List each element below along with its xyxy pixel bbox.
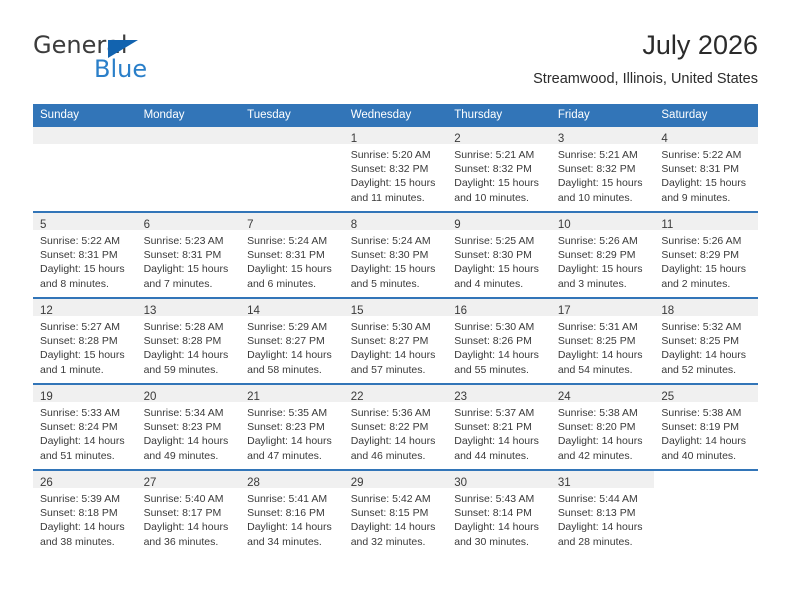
daylight-duration-line1: Daylight: 14 hours (247, 434, 338, 448)
day-details: Sunrise: 5:31 AMSunset: 8:25 PMDaylight:… (551, 316, 655, 377)
daylight-duration-line2: and 10 minutes. (454, 191, 545, 205)
calendar-day-cell[interactable]: 31Sunrise: 5:44 AMSunset: 8:13 PMDayligh… (551, 470, 655, 555)
day-number-band: 4 (654, 127, 758, 144)
sunset-time: Sunset: 8:15 PM (351, 506, 442, 520)
day-number-band: 13 (137, 299, 241, 316)
sunrise-time: Sunrise: 5:40 AM (144, 492, 235, 506)
day-number-band: 16 (447, 299, 551, 316)
sunrise-time: Sunrise: 5:37 AM (454, 406, 545, 420)
daylight-duration-line2: and 32 minutes. (351, 535, 442, 549)
sunset-time: Sunset: 8:29 PM (661, 248, 752, 262)
day-number: 6 (144, 219, 150, 231)
sunset-time: Sunset: 8:20 PM (558, 420, 649, 434)
day-details: Sunrise: 5:32 AMSunset: 8:25 PMDaylight:… (654, 316, 758, 377)
calendar-day-cell[interactable]: 21Sunrise: 5:35 AMSunset: 8:23 PMDayligh… (240, 384, 344, 470)
day-details: Sunrise: 5:23 AMSunset: 8:31 PMDaylight:… (137, 230, 241, 291)
daylight-duration-line1: Daylight: 15 hours (40, 262, 131, 276)
day-number-band: 3 (551, 127, 655, 144)
sunset-time: Sunset: 8:32 PM (454, 162, 545, 176)
calendar-day-cell[interactable]: 15Sunrise: 5:30 AMSunset: 8:27 PMDayligh… (344, 298, 448, 384)
sunrise-sunset-calendar: Sunday Monday Tuesday Wednesday Thursday… (33, 104, 758, 555)
sunrise-time: Sunrise: 5:39 AM (40, 492, 131, 506)
daylight-duration-line1: Daylight: 15 hours (247, 262, 338, 276)
calendar-day-cell[interactable]: 16Sunrise: 5:30 AMSunset: 8:26 PMDayligh… (447, 298, 551, 384)
daylight-duration-line2: and 34 minutes. (247, 535, 338, 549)
day-number-band: 27 (137, 471, 241, 488)
day-number: 10 (558, 219, 571, 231)
day-number-band: 2 (447, 127, 551, 144)
weekday-header-thursday: Thursday (447, 104, 551, 127)
sunrise-time: Sunrise: 5:33 AM (40, 406, 131, 420)
daylight-duration-line1: Daylight: 14 hours (247, 520, 338, 534)
day-number-band: 29 (344, 471, 448, 488)
day-number: 17 (558, 305, 571, 317)
daylight-duration-line2: and 3 minutes. (558, 277, 649, 291)
calendar-day-cell[interactable]: 4Sunrise: 5:22 AMSunset: 8:31 PMDaylight… (654, 127, 758, 212)
page-header: General Blue July 2026 Streamwood, Illin… (33, 28, 758, 100)
day-number: 1 (351, 133, 357, 145)
sunset-time: Sunset: 8:23 PM (247, 420, 338, 434)
day-details: Sunrise: 5:28 AMSunset: 8:28 PMDaylight:… (137, 316, 241, 377)
day-details: Sunrise: 5:43 AMSunset: 8:14 PMDaylight:… (447, 488, 551, 549)
day-number-band: 25 (654, 385, 758, 402)
daylight-duration-line2: and 30 minutes. (454, 535, 545, 549)
day-number: 31 (558, 477, 571, 489)
day-number-band: 21 (240, 385, 344, 402)
day-details: Sunrise: 5:44 AMSunset: 8:13 PMDaylight:… (551, 488, 655, 549)
calendar-day-cell[interactable]: 13Sunrise: 5:28 AMSunset: 8:28 PMDayligh… (137, 298, 241, 384)
calendar-day-cell[interactable]: 24Sunrise: 5:38 AMSunset: 8:20 PMDayligh… (551, 384, 655, 470)
daylight-duration-line2: and 36 minutes. (144, 535, 235, 549)
daylight-duration-line1: Daylight: 14 hours (661, 434, 752, 448)
weekday-header-tuesday: Tuesday (240, 104, 344, 127)
day-number: 7 (247, 219, 253, 231)
calendar-day-cell[interactable]: 2Sunrise: 5:21 AMSunset: 8:32 PMDaylight… (447, 127, 551, 212)
daylight-duration-line2: and 58 minutes. (247, 363, 338, 377)
day-number: 12 (40, 305, 53, 317)
sunrise-time: Sunrise: 5:26 AM (661, 234, 752, 248)
calendar-page: General Blue July 2026 Streamwood, Illin… (0, 0, 792, 612)
day-details: Sunrise: 5:41 AMSunset: 8:16 PMDaylight:… (240, 488, 344, 549)
calendar-day-cell[interactable]: 19Sunrise: 5:33 AMSunset: 8:24 PMDayligh… (33, 384, 137, 470)
day-number-band: 22 (344, 385, 448, 402)
sunrise-time: Sunrise: 5:20 AM (351, 148, 442, 162)
daylight-duration-line2: and 59 minutes. (144, 363, 235, 377)
daylight-duration-line2: and 28 minutes. (558, 535, 649, 549)
calendar-day-cell[interactable]: 20Sunrise: 5:34 AMSunset: 8:23 PMDayligh… (137, 384, 241, 470)
daylight-duration-line2: and 10 minutes. (558, 191, 649, 205)
daylight-duration-line2: and 55 minutes. (454, 363, 545, 377)
calendar-body: 1Sunrise: 5:20 AMSunset: 8:32 PMDaylight… (33, 127, 758, 555)
day-number-band: 26 (33, 471, 137, 488)
day-number: 11 (661, 219, 673, 231)
daylight-duration-line1: Daylight: 14 hours (558, 348, 649, 362)
day-number: 19 (40, 391, 53, 403)
daylight-duration-line1: Daylight: 14 hours (661, 348, 752, 362)
daylight-duration-line2: and 54 minutes. (558, 363, 649, 377)
calendar-day-cell[interactable]: 6Sunrise: 5:23 AMSunset: 8:31 PMDaylight… (137, 212, 241, 298)
day-number-band: 10 (551, 213, 655, 230)
sunset-time: Sunset: 8:17 PM (144, 506, 235, 520)
daylight-duration-line1: Daylight: 14 hours (351, 520, 442, 534)
day-details: Sunrise: 5:38 AMSunset: 8:20 PMDaylight:… (551, 402, 655, 463)
day-details: Sunrise: 5:21 AMSunset: 8:32 PMDaylight:… (551, 144, 655, 205)
sunset-time: Sunset: 8:28 PM (40, 334, 131, 348)
calendar-day-cell[interactable]: 25Sunrise: 5:38 AMSunset: 8:19 PMDayligh… (654, 384, 758, 470)
daylight-duration-line1: Daylight: 15 hours (454, 176, 545, 190)
daylight-duration-line2: and 52 minutes. (661, 363, 752, 377)
daylight-duration-line2: and 51 minutes. (40, 449, 131, 463)
calendar-day-cell[interactable]: 10Sunrise: 5:26 AMSunset: 8:29 PMDayligh… (551, 212, 655, 298)
day-details: Sunrise: 5:37 AMSunset: 8:21 PMDaylight:… (447, 402, 551, 463)
calendar-cell-empty (137, 127, 241, 212)
day-number-band (137, 127, 241, 144)
sunrise-time: Sunrise: 5:41 AM (247, 492, 338, 506)
sunset-time: Sunset: 8:27 PM (351, 334, 442, 348)
sunset-time: Sunset: 8:21 PM (454, 420, 545, 434)
daylight-duration-line1: Daylight: 14 hours (558, 520, 649, 534)
day-number: 30 (454, 477, 467, 489)
day-details: Sunrise: 5:25 AMSunset: 8:30 PMDaylight:… (447, 230, 551, 291)
day-details: Sunrise: 5:26 AMSunset: 8:29 PMDaylight:… (551, 230, 655, 291)
day-details: Sunrise: 5:39 AMSunset: 8:18 PMDaylight:… (33, 488, 137, 549)
sunrise-time: Sunrise: 5:28 AM (144, 320, 235, 334)
daylight-duration-line1: Daylight: 15 hours (661, 262, 752, 276)
daylight-duration-line2: and 6 minutes. (247, 277, 338, 291)
calendar-day-cell[interactable]: 29Sunrise: 5:42 AMSunset: 8:15 PMDayligh… (344, 470, 448, 555)
daylight-duration-line1: Daylight: 15 hours (351, 176, 442, 190)
day-details: Sunrise: 5:33 AMSunset: 8:24 PMDaylight:… (33, 402, 137, 463)
sunrise-time: Sunrise: 5:26 AM (558, 234, 649, 248)
day-number-band: 5 (33, 213, 137, 230)
day-number: 24 (558, 391, 571, 403)
sunrise-time: Sunrise: 5:30 AM (351, 320, 442, 334)
calendar-week-row: 5Sunrise: 5:22 AMSunset: 8:31 PMDaylight… (33, 212, 758, 298)
daylight-duration-line2: and 57 minutes. (351, 363, 442, 377)
calendar-week-row: 12Sunrise: 5:27 AMSunset: 8:28 PMDayligh… (33, 298, 758, 384)
sunset-time: Sunset: 8:32 PM (351, 162, 442, 176)
sunset-time: Sunset: 8:28 PM (144, 334, 235, 348)
day-details: Sunrise: 5:26 AMSunset: 8:29 PMDaylight:… (654, 230, 758, 291)
daylight-duration-line1: Daylight: 15 hours (351, 262, 442, 276)
calendar-day-cell[interactable]: 18Sunrise: 5:32 AMSunset: 8:25 PMDayligh… (654, 298, 758, 384)
sunset-time: Sunset: 8:30 PM (454, 248, 545, 262)
general-blue-logo[interactable]: General Blue (33, 32, 233, 90)
sunset-time: Sunset: 8:23 PM (144, 420, 235, 434)
sunrise-time: Sunrise: 5:24 AM (247, 234, 338, 248)
day-details: Sunrise: 5:27 AMSunset: 8:28 PMDaylight:… (33, 316, 137, 377)
day-number-band: 8 (344, 213, 448, 230)
calendar-header-row: Sunday Monday Tuesday Wednesday Thursday… (33, 104, 758, 127)
sunrise-time: Sunrise: 5:44 AM (558, 492, 649, 506)
daylight-duration-line2: and 9 minutes. (661, 191, 752, 205)
daylight-duration-line1: Daylight: 15 hours (40, 348, 131, 362)
sunset-time: Sunset: 8:27 PM (247, 334, 338, 348)
calendar-day-cell[interactable]: 28Sunrise: 5:41 AMSunset: 8:16 PMDayligh… (240, 470, 344, 555)
sunrise-time: Sunrise: 5:25 AM (454, 234, 545, 248)
calendar-cell-empty (240, 127, 344, 212)
daylight-duration-line2: and 7 minutes. (144, 277, 235, 291)
day-number: 29 (351, 477, 364, 489)
daylight-duration-line1: Daylight: 14 hours (40, 520, 131, 534)
daylight-duration-line1: Daylight: 15 hours (144, 262, 235, 276)
day-number-band: 30 (447, 471, 551, 488)
daylight-duration-line2: and 42 minutes. (558, 449, 649, 463)
day-number: 9 (454, 219, 460, 231)
day-number: 27 (144, 477, 157, 489)
day-details: Sunrise: 5:22 AMSunset: 8:31 PMDaylight:… (654, 144, 758, 205)
daylight-duration-line2: and 4 minutes. (454, 277, 545, 291)
sunrise-time: Sunrise: 5:23 AM (144, 234, 235, 248)
day-number: 14 (247, 305, 260, 317)
day-details: Sunrise: 5:34 AMSunset: 8:23 PMDaylight:… (137, 402, 241, 463)
day-number: 21 (247, 391, 260, 403)
sunrise-time: Sunrise: 5:24 AM (351, 234, 442, 248)
daylight-duration-line1: Daylight: 15 hours (661, 176, 752, 190)
daylight-duration-line2: and 5 minutes. (351, 277, 442, 291)
sunset-time: Sunset: 8:31 PM (40, 248, 131, 262)
sunset-time: Sunset: 8:22 PM (351, 420, 442, 434)
sunrise-time: Sunrise: 5:29 AM (247, 320, 338, 334)
daylight-duration-line1: Daylight: 15 hours (454, 262, 545, 276)
sunrise-time: Sunrise: 5:21 AM (454, 148, 545, 162)
day-details: Sunrise: 5:40 AMSunset: 8:17 PMDaylight:… (137, 488, 241, 549)
daylight-duration-line1: Daylight: 14 hours (558, 434, 649, 448)
day-number: 8 (351, 219, 357, 231)
day-number: 5 (40, 219, 46, 231)
weekday-header-sunday: Sunday (33, 104, 137, 127)
day-details: Sunrise: 5:20 AMSunset: 8:32 PMDaylight:… (344, 144, 448, 205)
calendar-day-cell[interactable]: 30Sunrise: 5:43 AMSunset: 8:14 PMDayligh… (447, 470, 551, 555)
sunset-time: Sunset: 8:19 PM (661, 420, 752, 434)
weekday-header-friday: Friday (551, 104, 655, 127)
sunrise-time: Sunrise: 5:30 AM (454, 320, 545, 334)
daylight-duration-line1: Daylight: 14 hours (351, 348, 442, 362)
day-number: 13 (144, 305, 157, 317)
day-details: Sunrise: 5:21 AMSunset: 8:32 PMDaylight:… (447, 144, 551, 205)
day-number-band: 24 (551, 385, 655, 402)
day-number-band: 14 (240, 299, 344, 316)
daylight-duration-line1: Daylight: 15 hours (558, 262, 649, 276)
day-details: Sunrise: 5:42 AMSunset: 8:15 PMDaylight:… (344, 488, 448, 549)
sunrise-time: Sunrise: 5:43 AM (454, 492, 545, 506)
day-number-band (240, 127, 344, 144)
sunrise-time: Sunrise: 5:32 AM (661, 320, 752, 334)
day-number: 15 (351, 305, 364, 317)
sunrise-time: Sunrise: 5:35 AM (247, 406, 338, 420)
daylight-duration-line2: and 40 minutes. (661, 449, 752, 463)
sunset-time: Sunset: 8:29 PM (558, 248, 649, 262)
sunset-time: Sunset: 8:16 PM (247, 506, 338, 520)
day-number-band: 19 (33, 385, 137, 402)
calendar-day-cell[interactable]: 7Sunrise: 5:24 AMSunset: 8:31 PMDaylight… (240, 212, 344, 298)
calendar-day-cell[interactable]: 27Sunrise: 5:40 AMSunset: 8:17 PMDayligh… (137, 470, 241, 555)
sunset-time: Sunset: 8:30 PM (351, 248, 442, 262)
daylight-duration-line2: and 49 minutes. (144, 449, 235, 463)
calendar-day-cell[interactable]: 1Sunrise: 5:20 AMSunset: 8:32 PMDaylight… (344, 127, 448, 212)
sunset-time: Sunset: 8:24 PM (40, 420, 131, 434)
day-number: 20 (144, 391, 157, 403)
sunset-time: Sunset: 8:13 PM (558, 506, 649, 520)
daylight-duration-line1: Daylight: 14 hours (247, 348, 338, 362)
daylight-duration-line2: and 8 minutes. (40, 277, 131, 291)
day-number: 18 (661, 305, 674, 317)
sunset-time: Sunset: 8:31 PM (247, 248, 338, 262)
day-number-band: 1 (344, 127, 448, 144)
daylight-duration-line2: and 11 minutes. (351, 191, 442, 205)
day-number: 25 (661, 391, 674, 403)
day-number-band: 31 (551, 471, 655, 488)
day-number: 3 (558, 133, 564, 145)
calendar-cell-empty (654, 470, 758, 555)
sunrise-time: Sunrise: 5:27 AM (40, 320, 131, 334)
day-number: 4 (661, 133, 667, 145)
sunrise-time: Sunrise: 5:38 AM (661, 406, 752, 420)
calendar-day-cell[interactable]: 14Sunrise: 5:29 AMSunset: 8:27 PMDayligh… (240, 298, 344, 384)
calendar-week-row: 26Sunrise: 5:39 AMSunset: 8:18 PMDayligh… (33, 470, 758, 555)
location-subtitle: Streamwood, Illinois, United States (533, 68, 758, 90)
calendar-day-cell[interactable]: 3Sunrise: 5:21 AMSunset: 8:32 PMDaylight… (551, 127, 655, 212)
day-number-band: 23 (447, 385, 551, 402)
daylight-duration-line1: Daylight: 14 hours (454, 434, 545, 448)
day-number-band: 18 (654, 299, 758, 316)
sunrise-time: Sunrise: 5:21 AM (558, 148, 649, 162)
daylight-duration-line1: Daylight: 14 hours (454, 520, 545, 534)
sunrise-time: Sunrise: 5:42 AM (351, 492, 442, 506)
daylight-duration-line2: and 47 minutes. (247, 449, 338, 463)
day-number: 2 (454, 133, 460, 145)
weekday-header-monday: Monday (137, 104, 241, 127)
daylight-duration-line1: Daylight: 14 hours (351, 434, 442, 448)
day-number-band: 28 (240, 471, 344, 488)
daylight-duration-line1: Daylight: 14 hours (40, 434, 131, 448)
calendar-day-cell[interactable]: 23Sunrise: 5:37 AMSunset: 8:21 PMDayligh… (447, 384, 551, 470)
day-number-band: 6 (137, 213, 241, 230)
day-number-band: 9 (447, 213, 551, 230)
day-details: Sunrise: 5:30 AMSunset: 8:27 PMDaylight:… (344, 316, 448, 377)
day-number-band (654, 471, 758, 488)
sunset-time: Sunset: 8:18 PM (40, 506, 131, 520)
day-details: Sunrise: 5:24 AMSunset: 8:31 PMDaylight:… (240, 230, 344, 291)
calendar-day-cell[interactable]: 22Sunrise: 5:36 AMSunset: 8:22 PMDayligh… (344, 384, 448, 470)
calendar-week-row: 19Sunrise: 5:33 AMSunset: 8:24 PMDayligh… (33, 384, 758, 470)
daylight-duration-line1: Daylight: 14 hours (144, 434, 235, 448)
day-number-band: 15 (344, 299, 448, 316)
day-details: Sunrise: 5:24 AMSunset: 8:30 PMDaylight:… (344, 230, 448, 291)
day-number: 23 (454, 391, 467, 403)
day-number-band: 17 (551, 299, 655, 316)
daylight-duration-line2: and 44 minutes. (454, 449, 545, 463)
daylight-duration-line2: and 46 minutes. (351, 449, 442, 463)
daylight-duration-line2: and 1 minute. (40, 363, 131, 377)
day-number: 28 (247, 477, 260, 489)
sunrise-time: Sunrise: 5:38 AM (558, 406, 649, 420)
weekday-header-wednesday: Wednesday (344, 104, 448, 127)
day-details: Sunrise: 5:30 AMSunset: 8:26 PMDaylight:… (447, 316, 551, 377)
day-details: Sunrise: 5:38 AMSunset: 8:19 PMDaylight:… (654, 402, 758, 463)
calendar-day-cell[interactable]: 11Sunrise: 5:26 AMSunset: 8:29 PMDayligh… (654, 212, 758, 298)
weekday-header-saturday: Saturday (654, 104, 758, 127)
calendar-day-cell[interactable]: 12Sunrise: 5:27 AMSunset: 8:28 PMDayligh… (33, 298, 137, 384)
sunset-time: Sunset: 8:31 PM (661, 162, 752, 176)
sunset-time: Sunset: 8:25 PM (661, 334, 752, 348)
daylight-duration-line2: and 2 minutes. (661, 277, 752, 291)
calendar-day-cell[interactable]: 26Sunrise: 5:39 AMSunset: 8:18 PMDayligh… (33, 470, 137, 555)
calendar-day-cell[interactable]: 5Sunrise: 5:22 AMSunset: 8:31 PMDaylight… (33, 212, 137, 298)
calendar-week-row: 1Sunrise: 5:20 AMSunset: 8:32 PMDaylight… (33, 127, 758, 212)
logo-text-blue: Blue (94, 56, 147, 82)
sunrise-time: Sunrise: 5:36 AM (351, 406, 442, 420)
day-details: Sunrise: 5:36 AMSunset: 8:22 PMDaylight:… (344, 402, 448, 463)
day-number-band: 20 (137, 385, 241, 402)
day-number-band: 12 (33, 299, 137, 316)
sunrise-time: Sunrise: 5:34 AM (144, 406, 235, 420)
day-details: Sunrise: 5:22 AMSunset: 8:31 PMDaylight:… (33, 230, 137, 291)
day-number: 22 (351, 391, 364, 403)
calendar-day-cell[interactable]: 8Sunrise: 5:24 AMSunset: 8:30 PMDaylight… (344, 212, 448, 298)
daylight-duration-line1: Daylight: 14 hours (144, 348, 235, 362)
calendar-day-cell[interactable]: 17Sunrise: 5:31 AMSunset: 8:25 PMDayligh… (551, 298, 655, 384)
sunrise-time: Sunrise: 5:31 AM (558, 320, 649, 334)
daylight-duration-line1: Daylight: 14 hours (454, 348, 545, 362)
sunset-time: Sunset: 8:31 PM (144, 248, 235, 262)
day-number-band (33, 127, 137, 144)
day-details: Sunrise: 5:35 AMSunset: 8:23 PMDaylight:… (240, 402, 344, 463)
daylight-duration-line2: and 38 minutes. (40, 535, 131, 549)
daylight-duration-line1: Daylight: 14 hours (144, 520, 235, 534)
day-number: 26 (40, 477, 53, 489)
daylight-duration-line1: Daylight: 15 hours (558, 176, 649, 190)
sunrise-time: Sunrise: 5:22 AM (40, 234, 131, 248)
sunset-time: Sunset: 8:25 PM (558, 334, 649, 348)
calendar-cell-empty (33, 127, 137, 212)
sunset-time: Sunset: 8:32 PM (558, 162, 649, 176)
page-title: July 2026 (533, 28, 758, 62)
day-number-band: 11 (654, 213, 758, 230)
sunset-time: Sunset: 8:26 PM (454, 334, 545, 348)
day-number: 16 (454, 305, 467, 317)
calendar-day-cell[interactable]: 9Sunrise: 5:25 AMSunset: 8:30 PMDaylight… (447, 212, 551, 298)
sunrise-time: Sunrise: 5:22 AM (661, 148, 752, 162)
day-details: Sunrise: 5:29 AMSunset: 8:27 PMDaylight:… (240, 316, 344, 377)
sunset-time: Sunset: 8:14 PM (454, 506, 545, 520)
title-block: July 2026 Streamwood, Illinois, United S… (533, 28, 758, 90)
day-number-band: 7 (240, 213, 344, 230)
